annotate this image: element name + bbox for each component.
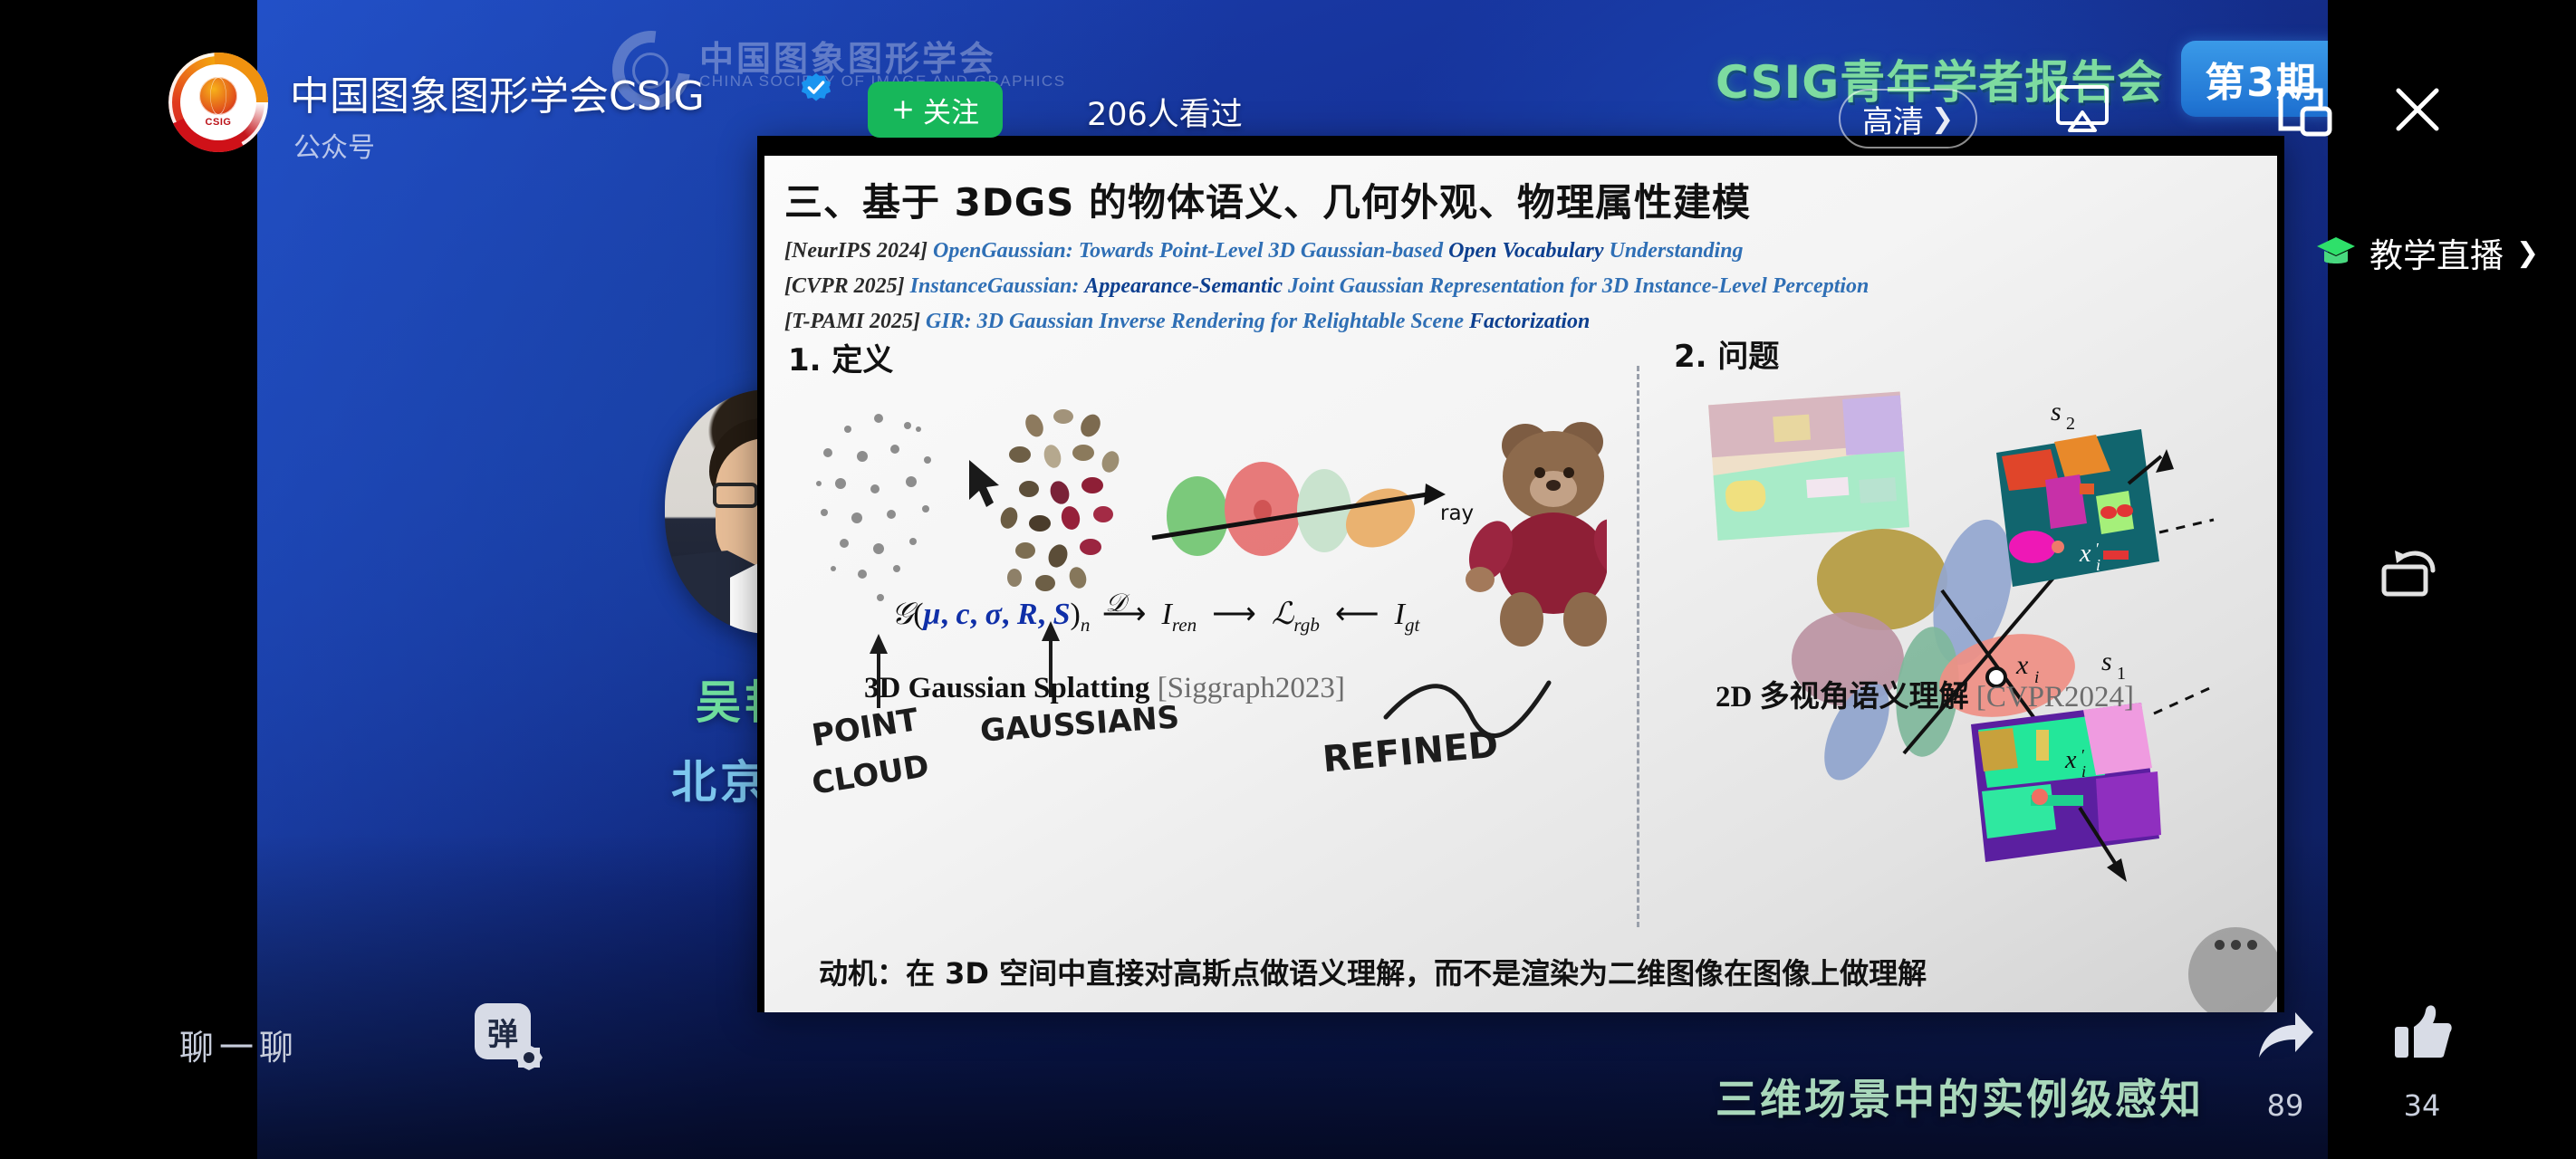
picture-in-picture-icon[interactable] <box>2275 81 2335 141</box>
avatar-label: CSIG <box>206 117 232 128</box>
citation-highlight: Open Vocabulary <box>1448 239 1603 263</box>
svg-text:′: ′ <box>2096 540 2100 558</box>
citation-pre: GIR: 3D Gaussian Inverse Rendering for R… <box>920 310 1469 333</box>
slide-column-divider <box>1637 366 1639 927</box>
right-caption-ref: [CVPR2024] <box>1976 681 2134 714</box>
gaussian-splatting-figure: ray <box>792 382 1607 925</box>
citation-post: Joint Gaussian Representation for 3D Ins… <box>1283 274 1869 298</box>
close-icon[interactable] <box>2388 80 2447 139</box>
chevron-right-icon: ❯ <box>1931 103 1954 135</box>
presentation-slide: 三、基于 3DGS 的物体语义、几何外观、物理属性建模 [NeurIPS 202… <box>764 156 2277 1012</box>
channel-avatar[interactable]: CSIG <box>168 53 268 152</box>
follow-plus-icon: + <box>891 93 915 126</box>
slide-motivation-note: 动机：在 3D 空间中直接对高斯点做语义理解，而不是渲染为二维图像在图像上做理解 <box>819 951 1927 992</box>
teaching-live-entry[interactable]: 教学直播 ❯ <box>2315 228 2539 277</box>
thumbs-up-icon[interactable] <box>2389 1000 2456 1067</box>
viewer-count: 206人看过 <box>1087 89 1243 135</box>
citation-tag: [T-PAMI 2025] <box>784 310 920 333</box>
quality-selector[interactable]: 高清 ❯ <box>1839 89 1977 148</box>
verified-badge-icon <box>801 72 831 103</box>
slide-citations: [NeurIPS 2024] OpenGaussian: Towards Poi… <box>784 234 1869 340</box>
screen-rotate-icon[interactable] <box>2380 543 2451 607</box>
channel-subtitle: 公众号 <box>293 125 375 165</box>
channel-name[interactable]: 中国图象图形学会CSIG <box>290 63 705 121</box>
event-banner: CSIG青年学者报告会 第3期 <box>1716 41 2328 117</box>
more-options-icon[interactable] <box>2188 927 2277 1012</box>
right-caption-text: 2D 多视角语义理解 <box>1716 681 1976 714</box>
share-icon[interactable] <box>2252 1001 2319 1068</box>
citation-row: [NeurIPS 2024] OpenGaussian: Towards Poi… <box>784 234 1869 269</box>
svg-text:′: ′ <box>2081 746 2085 764</box>
slide-title: 三、基于 3DGS 的物体语义、几何外观、物理属性建模 <box>784 172 1751 227</box>
gear-icon <box>514 1043 543 1072</box>
graduation-cap-icon <box>2315 235 2357 271</box>
citation-highlight: Appearance-Semantic <box>1084 274 1283 298</box>
share-count: 89 <box>2252 1088 2319 1123</box>
follow-label: 关注 <box>923 90 979 130</box>
citation-pre: InstanceGaussian: <box>905 274 1085 298</box>
multiview-semantic-figure: x i <box>1670 369 2232 931</box>
video-surface[interactable]: 中国图象图形学会 CHINA SOCIETY OF IMAGE AND GRAP… <box>257 0 2328 1159</box>
slide-left-heading: 1. 定义 <box>788 335 893 379</box>
svg-text:2: 2 <box>2066 414 2075 434</box>
citation-tag: [NeurIPS 2024] <box>784 239 928 263</box>
citation-highlight: Factorization <box>1469 310 1590 333</box>
citation-pre: OpenGaussian: Towards Point-Level 3D Gau… <box>928 239 1448 263</box>
svg-text:ray: ray <box>1440 502 1474 525</box>
svg-text:s: s <box>2051 397 2062 426</box>
follow-button[interactable]: + 关注 <box>868 81 1003 138</box>
quality-label: 高清 <box>1862 97 1924 141</box>
like-count: 34 <box>2386 1088 2458 1123</box>
right-figure-caption: 2D 多视角语义理解 [CVPR2024] <box>1716 672 2134 715</box>
svg-text:i: i <box>2081 762 2086 781</box>
citation-post: Understanding <box>1604 239 1744 263</box>
chevron-right-icon: ❯ <box>2516 237 2539 269</box>
left-caption-text: 3D Gaussian Splatting <box>864 672 1158 704</box>
avatar-inner: CSIG <box>180 64 256 140</box>
chat-entry[interactable]: 聊一聊 <box>179 1020 299 1069</box>
watermark-cn-text: 中国图象图形学会 <box>699 31 996 81</box>
citation-tag: [CVPR 2025] <box>784 274 905 298</box>
left-caption-ref: [Siggraph2023] <box>1158 672 1345 704</box>
talk-subject-kicker: 三维场景中的实例级感知 <box>1716 1067 2204 1126</box>
teaching-live-label: 教学直播 <box>2369 228 2504 277</box>
splatting-formula: 𝒢(μ, c, σ, R, S)n 𝒟⟶ Iren ⟶ ℒrgb ⟵ Igt <box>891 596 1419 637</box>
danmaku-settings-icon[interactable]: 弹 <box>475 1003 542 1070</box>
cast-icon[interactable] <box>2051 83 2114 143</box>
presentation-slide-frame[interactable]: 三、基于 3DGS 的物体语义、几何外观、物理属性建模 [NeurIPS 202… <box>757 136 2284 1012</box>
avatar-globe-icon <box>199 77 237 115</box>
svg-text:x: x <box>2079 540 2091 568</box>
citation-row: [CVPR 2025] InstanceGaussian: Appearance… <box>784 269 1869 304</box>
left-figure-caption: 3D Gaussian Splatting [Siggraph2023] <box>864 672 1345 705</box>
svg-text:i: i <box>2096 556 2100 574</box>
svg-text:x: x <box>2064 746 2077 774</box>
live-stream-player: 中国图象图形学会 CHINA SOCIETY OF IMAGE AND GRAP… <box>0 0 2576 1159</box>
